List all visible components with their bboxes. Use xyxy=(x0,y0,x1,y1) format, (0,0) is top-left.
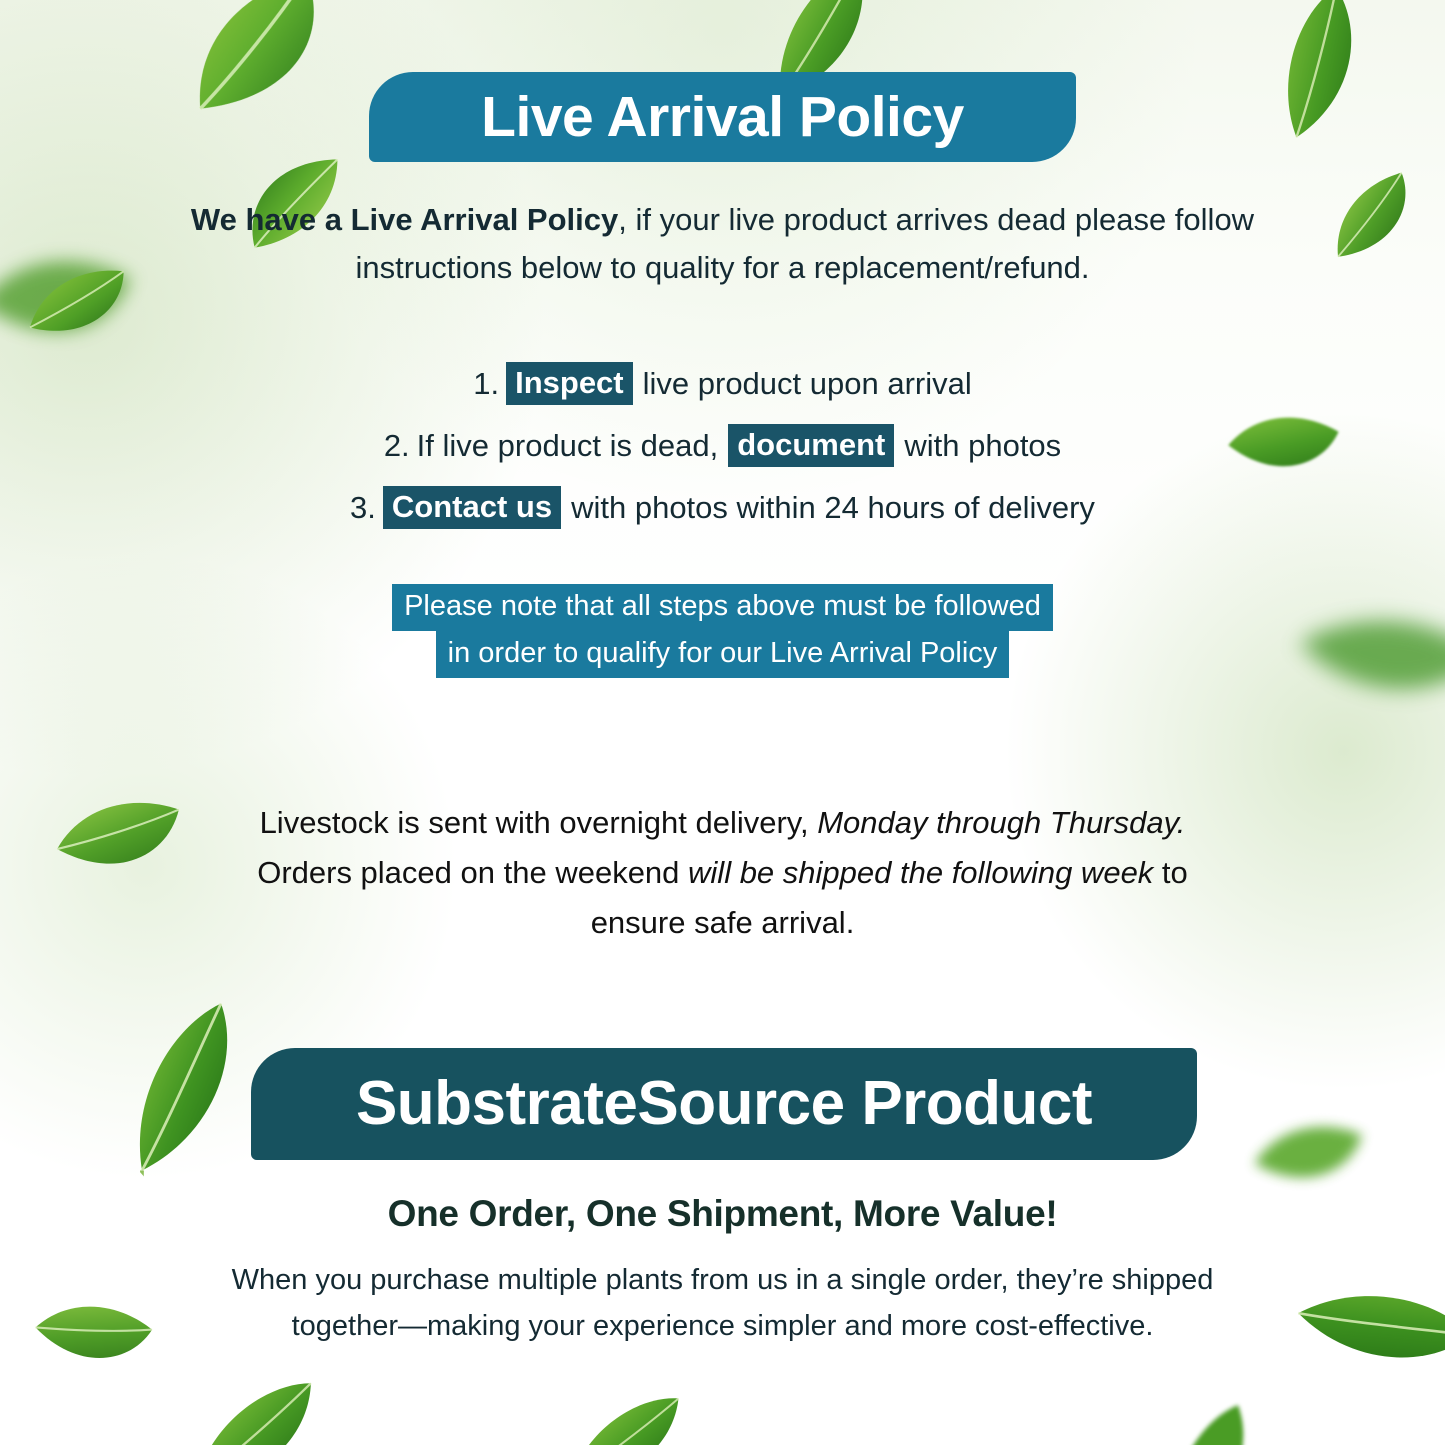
shipping-text-part-2: Orders placed on the weekend xyxy=(257,855,688,890)
shipping-italic-1: Monday through Thursday. xyxy=(817,805,1185,840)
substratesource-product-banner: SubstrateSource Product xyxy=(251,1048,1197,1160)
step-highlight: document xyxy=(728,424,894,467)
substratesource-banner-title: SubstrateSource Product xyxy=(356,1073,1092,1135)
step-number: 2. xyxy=(384,430,410,461)
live-arrival-banner: Live Arrival Policy xyxy=(369,72,1076,162)
shipping-paragraph: Livestock is sent with overnight deliver… xyxy=(210,798,1235,949)
list-item: 3. Contact us with photos within 24 hour… xyxy=(200,476,1245,538)
step-tail-text: live product upon arrival xyxy=(643,368,972,399)
steps-list: 1. Inspect live product upon arrival 2. … xyxy=(200,352,1245,538)
step-number: 1. xyxy=(473,368,499,399)
shipping-text-part-1: Livestock is sent with overnight deliver… xyxy=(260,805,818,840)
policy-note-line-2: in order to qualify for our Live Arrival… xyxy=(436,631,1010,678)
intro-paragraph: We have a Live Arrival Policy, if your l… xyxy=(160,196,1285,292)
step-tail-text: with photos within 24 hours of delivery xyxy=(571,492,1095,523)
step-lead-text: If live product is dead, xyxy=(417,430,719,461)
step-tail-text: with photos xyxy=(904,430,1061,461)
value-paragraph: When you purchase multiple plants from u… xyxy=(175,1258,1270,1350)
list-item: 1. Inspect live product upon arrival xyxy=(200,352,1245,414)
step-highlight: Inspect xyxy=(506,362,633,405)
promo-page: Live Arrival Policy We have a Live Arriv… xyxy=(0,0,1445,1445)
shipping-italic-2: will be shipped the following week xyxy=(688,855,1153,890)
live-arrival-banner-title: Live Arrival Policy xyxy=(481,89,964,146)
policy-note-block: Please note that all steps above must be… xyxy=(200,584,1245,678)
policy-note-line-1: Please note that all steps above must be… xyxy=(392,584,1053,631)
list-item: 2. If live product is dead, document wit… xyxy=(200,414,1245,476)
step-highlight: Contact us xyxy=(383,486,561,529)
value-heading: One Order, One Shipment, More Value! xyxy=(200,1193,1245,1235)
step-number: 3. xyxy=(350,492,376,523)
intro-bold-text: We have a Live Arrival Policy xyxy=(191,202,618,237)
promo-content: Live Arrival Policy We have a Live Arriv… xyxy=(0,0,1445,1445)
